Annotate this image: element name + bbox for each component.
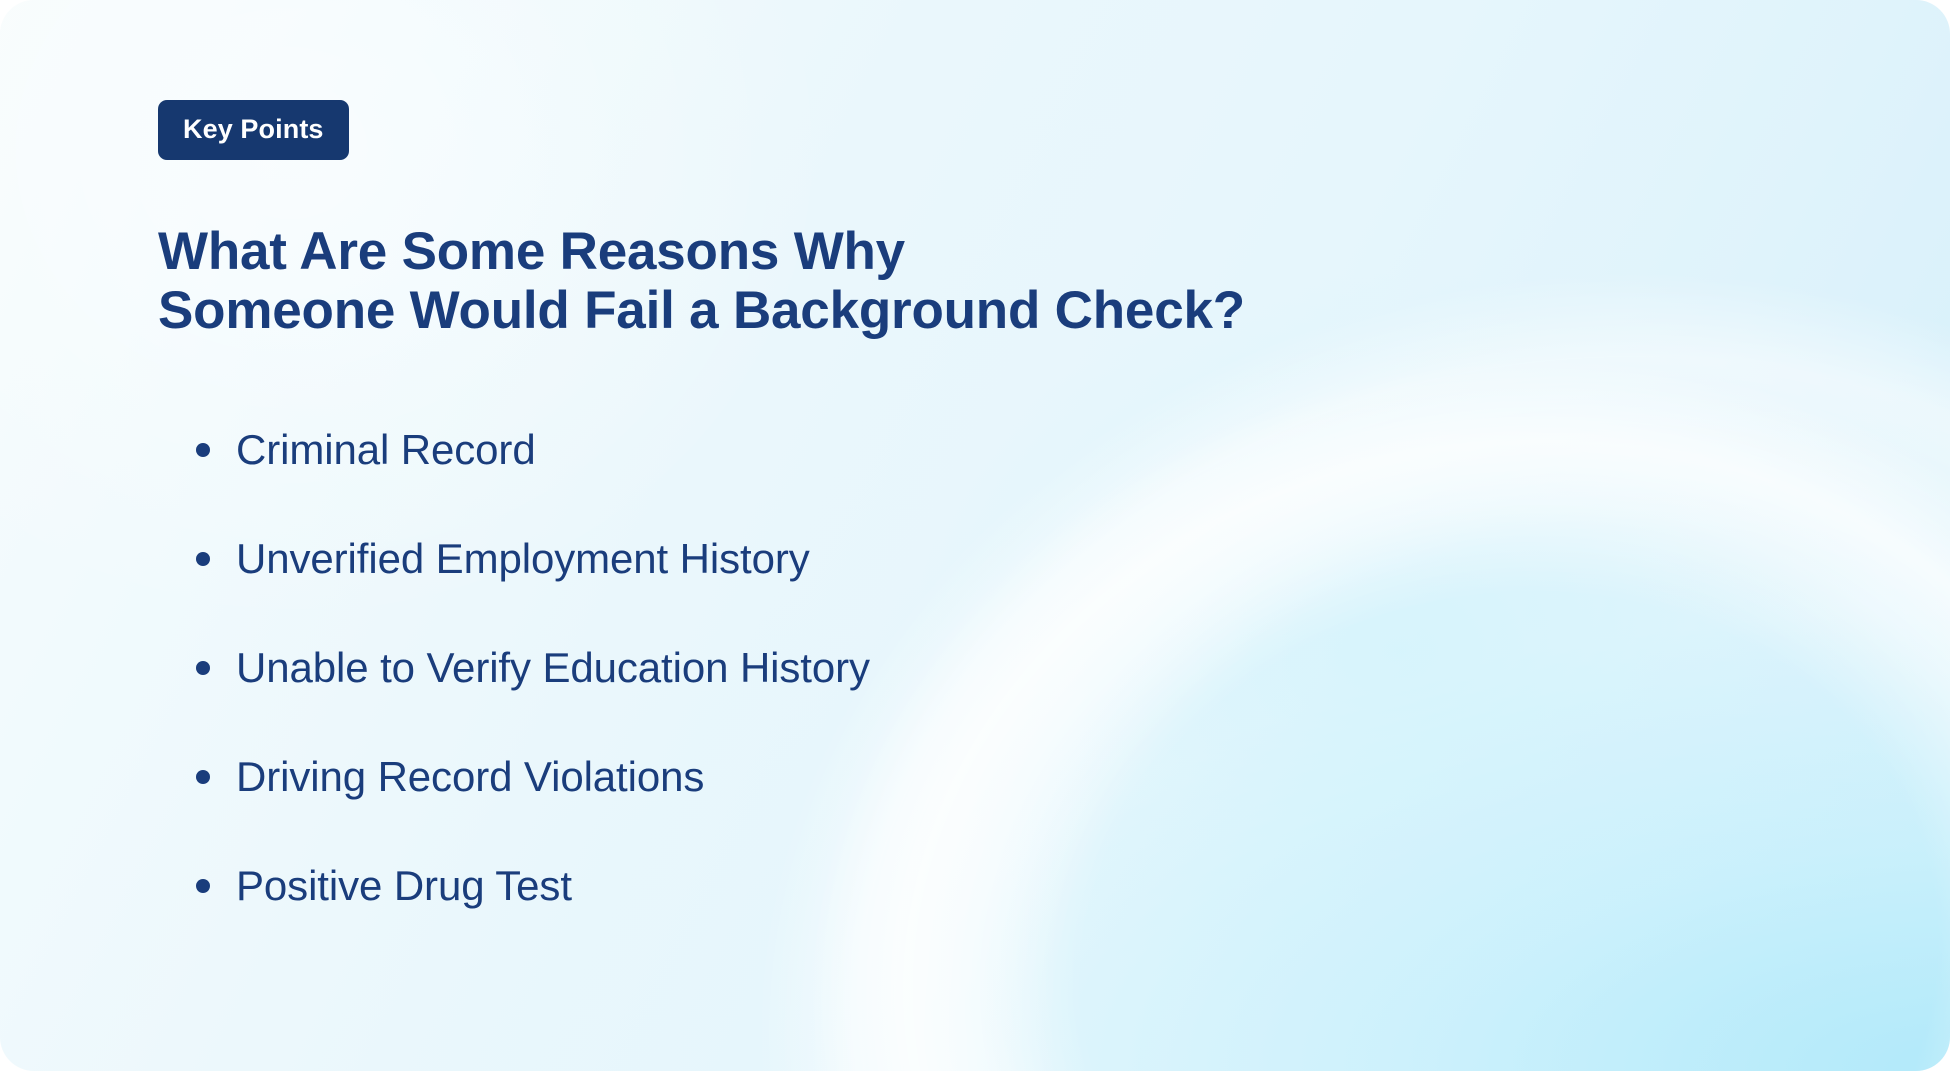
list-item: Unverified Employment History bbox=[158, 538, 1950, 580]
list-item: Positive Drug Test bbox=[158, 865, 1950, 907]
list-item: Unable to Verify Education History bbox=[158, 647, 1950, 689]
key-points-list: Criminal Record Unverified Employment Hi… bbox=[158, 341, 1950, 907]
key-points-card: Key Points What Are Some Reasons Why Som… bbox=[0, 0, 1950, 1071]
list-item: Criminal Record bbox=[158, 429, 1950, 471]
bullet-dot-icon bbox=[196, 770, 210, 784]
list-item-label: Driving Record Violations bbox=[236, 753, 704, 800]
bullet-dot-icon bbox=[196, 661, 210, 675]
list-item-label: Positive Drug Test bbox=[236, 862, 572, 909]
list-item-label: Criminal Record bbox=[236, 426, 536, 473]
list-item-label: Unverified Employment History bbox=[236, 535, 810, 582]
page-title: What Are Some Reasons Why Someone Would … bbox=[158, 160, 1950, 341]
card-content: Key Points What Are Some Reasons Why Som… bbox=[0, 0, 1950, 907]
bullet-dot-icon bbox=[196, 879, 210, 893]
list-item-label: Unable to Verify Education History bbox=[236, 644, 870, 691]
page-title-line-1: What Are Some Reasons Why bbox=[158, 222, 1950, 281]
list-item: Driving Record Violations bbox=[158, 756, 1950, 798]
bullet-dot-icon bbox=[196, 443, 210, 457]
key-points-badge: Key Points bbox=[158, 100, 349, 160]
page-title-line-2: Someone Would Fail a Background Check? bbox=[158, 281, 1950, 340]
bullet-dot-icon bbox=[196, 552, 210, 566]
